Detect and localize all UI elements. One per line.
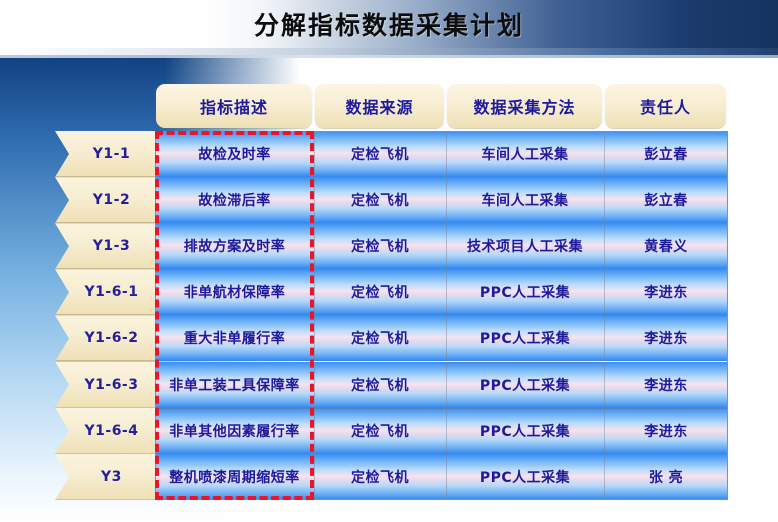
title-separator [0, 48, 778, 55]
row-label-text: Y3 [101, 469, 122, 485]
row-label-text: Y1-3 [93, 238, 130, 254]
column-separator [604, 454, 605, 500]
column-separator [604, 269, 605, 315]
column-separator [314, 177, 315, 223]
column-separator [314, 408, 315, 454]
cell-source: 定检飞机 [314, 362, 446, 408]
row-label-text: Y1-6-1 [85, 284, 139, 300]
cell-owner: 李进东 [604, 362, 728, 408]
page-title: 分解指标数据采集计划 [0, 2, 778, 46]
cell-source: 定检飞机 [314, 131, 446, 177]
column-separator [604, 177, 605, 223]
table-header-desc[interactable]: 指标描述 [156, 84, 312, 128]
column-separator [604, 131, 605, 177]
table-header-owner[interactable]: 责任人 [605, 84, 726, 128]
row-label-column: Y1-1Y1-2Y1-3Y1-6-1Y1-6-2Y1-6-3Y1-6-4Y3 [55, 131, 158, 500]
row-label-y1-6-3[interactable]: Y1-6-3 [55, 362, 158, 408]
row-label-y3[interactable]: Y3 [55, 454, 158, 500]
cell-owner: 彭立春 [604, 177, 728, 223]
table-header-label: 责任人 [640, 94, 691, 118]
cell-source: 定检飞机 [314, 408, 446, 454]
cell-method: 车间人工采集 [446, 177, 604, 223]
row-label-y1-2[interactable]: Y1-2 [55, 177, 158, 223]
column-separator [446, 177, 447, 223]
table-header-label: 数据来源 [345, 94, 413, 118]
cell-owner: 李进东 [604, 315, 728, 361]
cell-owner: 彭立春 [604, 131, 728, 177]
column-separator [604, 362, 605, 408]
cell-owner: 李进东 [604, 269, 728, 315]
column-separator [446, 362, 447, 408]
table-header-method[interactable]: 数据采集方法 [447, 84, 602, 128]
column-separator [604, 223, 605, 269]
highlight-dashed-box [155, 131, 314, 500]
table-header-label: 数据采集方法 [473, 94, 575, 118]
cell-owner: 黄春义 [604, 223, 728, 269]
cell-method: 车间人工采集 [446, 131, 604, 177]
cell-source: 定检飞机 [314, 177, 446, 223]
cell-method: PPC人工采集 [446, 408, 604, 454]
column-separator [446, 315, 447, 361]
column-separator [446, 454, 447, 500]
cell-method: 技术项目人工采集 [446, 223, 604, 269]
column-separator [314, 269, 315, 315]
row-label-text: Y1-6-4 [85, 423, 139, 439]
slide-canvas: 分解指标数据采集计划 Y1-1Y1-2Y1-3Y1-6-1Y1-6-2Y1-6-… [0, 0, 778, 522]
row-label-y1-1[interactable]: Y1-1 [55, 131, 158, 177]
table-header-source[interactable]: 数据来源 [315, 84, 444, 128]
column-separator [314, 131, 315, 177]
row-label-y1-6-2[interactable]: Y1-6-2 [55, 315, 158, 361]
title-separator-secondary [0, 55, 778, 58]
cell-source: 定检飞机 [314, 315, 446, 361]
cell-source: 定检飞机 [314, 454, 446, 500]
column-separator [604, 408, 605, 454]
column-separator [314, 454, 315, 500]
column-separator [314, 315, 315, 361]
row-separator [604, 315, 728, 316]
cell-method: PPC人工采集 [446, 269, 604, 315]
row-label-text: Y1-6-3 [85, 377, 139, 393]
row-label-text: Y1-2 [93, 192, 130, 208]
row-label-y1-3[interactable]: Y1-3 [55, 223, 158, 269]
cell-owner: 张 亮 [604, 454, 728, 500]
column-separator [604, 315, 605, 361]
cell-method: PPC人工采集 [446, 454, 604, 500]
column-separator [446, 223, 447, 269]
column-separator [446, 131, 447, 177]
row-label-text: Y1-1 [93, 146, 130, 162]
column-separator [446, 269, 447, 315]
column-separator [446, 408, 447, 454]
cell-source: 定检飞机 [314, 269, 446, 315]
column-separator [314, 362, 315, 408]
cell-method: PPC人工采集 [446, 362, 604, 408]
row-label-text: Y1-6-2 [85, 330, 139, 346]
table-header-label: 指标描述 [200, 94, 268, 118]
cell-method: PPC人工采集 [446, 315, 604, 361]
row-separator [446, 362, 604, 363]
cell-owner: 李进东 [604, 408, 728, 454]
row-label-y1-6-1[interactable]: Y1-6-1 [55, 269, 158, 315]
row-label-y1-6-4[interactable]: Y1-6-4 [55, 408, 158, 454]
cell-source: 定检飞机 [314, 223, 446, 269]
column-separator [314, 223, 315, 269]
